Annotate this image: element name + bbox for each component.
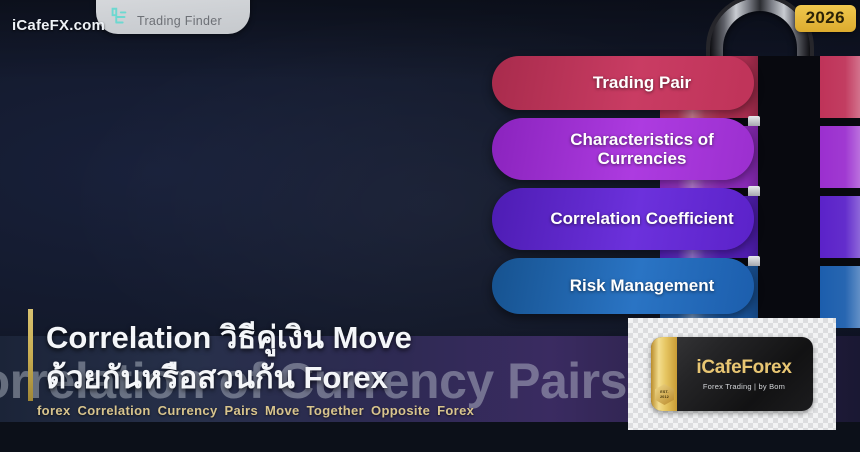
est-year: 2012 [660, 395, 669, 399]
pill-trading-pair[interactable]: Trading Pair [492, 56, 754, 110]
keyword-list: forex Correlation Currency Pairs Move To… [37, 403, 474, 418]
pill-label: Trading Pair [593, 73, 691, 92]
headline-line-2: ด้วยกันหรือสวนกัน Forex [46, 358, 606, 398]
year-badge: 2026 [795, 5, 856, 32]
pill-characteristics-of-currencies[interactable]: Characteristics of Currencies [492, 118, 754, 180]
trading-finder-logo-icon [108, 6, 130, 28]
pill-label: Risk Management [570, 276, 715, 295]
pill-label: Correlation Coefficient [550, 209, 733, 228]
headline-line-1: Correlation วิธีคู่เงิน Move [46, 318, 606, 358]
trading-finder-label: Trading Finder [137, 14, 222, 28]
trading-finder-tab: Trading Finder [96, 0, 250, 34]
logo-plate: EST. 2012 iCafeForex Forex Trading | by … [651, 337, 813, 411]
pill-correlation-coefficient[interactable]: Correlation Coefficient [492, 188, 754, 250]
logo-brand-name: iCafeForex [681, 357, 807, 379]
promo-banner: Correlation of Currency Pairs in Forex [0, 0, 860, 452]
page-title: Correlation วิธีคู่เงิน Move ด้วยกันหรือ… [46, 318, 606, 397]
pill-risk-management[interactable]: Risk Management [492, 258, 754, 314]
accent-bar [28, 309, 33, 401]
site-watermark: iCafeFX.com [12, 17, 105, 34]
pill-label: Characteristics of Currencies [544, 130, 740, 169]
logo-tagline: Forex Trading | by Bom [681, 382, 807, 391]
icafeforex-logo-card: EST. 2012 iCafeForex Forex Trading | by … [628, 318, 836, 430]
